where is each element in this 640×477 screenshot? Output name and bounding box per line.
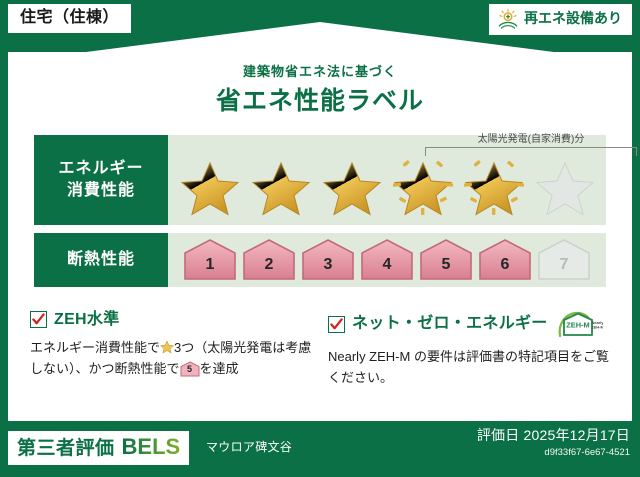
level-number: 6	[501, 257, 510, 282]
zeh-body-part1: エネルギー消費性能で	[30, 340, 160, 355]
energy-row-value: 太陽光発電(自家消費)分	[168, 135, 606, 225]
level-number: 2	[265, 257, 274, 282]
title-subtitle: 建築物省エネ法に基づく	[8, 64, 632, 80]
net-zero-title: ネット・ゼロ・エネルギー	[352, 314, 548, 333]
ratings-rows: エネルギー 消費性能 太陽光発電(自家消費)分	[34, 135, 606, 295]
level-number: 1	[206, 257, 215, 282]
insulation-row-label: 断熱性能	[34, 233, 168, 287]
insulation-level-4: 4	[359, 238, 415, 282]
insulation-row-value: 1 2 3	[168, 233, 606, 287]
title-block: 建築物省エネ法に基づく 省エネ性能ラベル	[8, 52, 632, 116]
star-5-solar	[461, 156, 527, 218]
evaluation-id: d9f33f67-6e67-4521	[477, 447, 630, 458]
bels-jp-label: 第三者評価	[17, 439, 115, 460]
inline-level-number: 5	[180, 362, 200, 377]
energy-row-label: エネルギー 消費性能	[34, 135, 168, 225]
star-icon	[160, 340, 174, 354]
star-icon	[322, 160, 382, 217]
star-4-solar	[390, 156, 456, 218]
energy-performance-label: 住宅（住棟） 再エネ設備あり 建築物省エネ法に基づく 省エネ性能	[0, 0, 640, 477]
sparkle-icon	[390, 156, 456, 218]
star-6-empty	[532, 156, 598, 218]
zeh-standard-body: エネルギー消費性能で3つ（太陽光発電は考慮しない）、かつ断熱性能で5を達成	[30, 337, 312, 379]
level-number: 5	[442, 257, 451, 282]
zeh-standard-checkbox[interactable]	[30, 311, 47, 328]
renewable-energy-chip: 再エネ設備あり	[489, 4, 632, 35]
page-title: 省エネ性能ラベル	[8, 86, 632, 116]
star-rating	[168, 135, 606, 225]
building-type-chip: 住宅（住棟）	[8, 4, 131, 33]
zeh-standard-title: ZEH水準	[54, 310, 120, 329]
level-number: 3	[324, 257, 333, 282]
bels-badge: 第三者評価 BELS	[8, 431, 189, 465]
star-icon	[251, 160, 311, 217]
label-header: 住宅（住棟） 再エネ設備あり	[0, 0, 640, 56]
inline-level-badge: 5	[180, 361, 200, 377]
net-zero-checkbox[interactable]	[328, 316, 345, 333]
check-icon	[330, 318, 343, 331]
building-name: マウロア碑文谷	[206, 441, 292, 454]
bels-en-label: BELS	[122, 435, 181, 459]
net-zero-body: Nearly ZEH-M の要件は評価書の特記項目をご覧ください。	[328, 346, 610, 388]
energy-label-line2: 消費性能	[67, 180, 135, 202]
insulation-level-scale: 1 2 3	[168, 233, 606, 287]
zeh-standard-block: ZEH水準 エネルギー消費性能で3つ（太陽光発電は考慮しない）、かつ断熱性能で5…	[30, 310, 312, 388]
insulation-level-3: 3	[300, 238, 356, 282]
insulation-level-1: 1	[182, 238, 238, 282]
net-zero-energy-block: ネット・ゼロ・エネルギー ZEH-M Nearly ZEH-M Nearly Z…	[328, 310, 610, 388]
insulation-level-2: 2	[241, 238, 297, 282]
insulation-level-7: 7	[536, 238, 592, 282]
svg-text:ZEH-M: ZEH-M	[591, 325, 603, 330]
insulation-level-6: 6	[477, 238, 533, 282]
energy-performance-row: エネルギー 消費性能 太陽光発電(自家消費)分	[34, 135, 606, 225]
sparkle-icon	[461, 156, 527, 218]
star-2	[248, 156, 314, 218]
insulation-level-5: 5	[418, 238, 474, 282]
insulation-performance-row: 断熱性能 1	[34, 233, 606, 287]
star-3	[319, 156, 385, 218]
label-card: 建築物省エネ法に基づく 省エネ性能ラベル エネルギー 消費性能 太陽光発電(自家…	[8, 52, 632, 421]
star-icon	[180, 160, 240, 217]
zeh-m-logo-icon: ZEH-M Nearly ZEH-M	[557, 310, 603, 338]
label-footer: 第三者評価 BELS マウロア碑文谷 評価日 2025年12月17日 d9f33…	[0, 421, 640, 477]
evaluation-info: 評価日 2025年12月17日 d9f33f67-6e67-4521	[477, 427, 630, 458]
check-icon	[32, 313, 45, 326]
zeh-body-part3: を達成	[200, 361, 239, 376]
zeh-section: ZEH水準 エネルギー消費性能で3つ（太陽光発電は考慮しない）、かつ断熱性能で5…	[30, 310, 610, 388]
star-outline-icon	[535, 160, 595, 217]
svg-text:ZEH-M: ZEH-M	[566, 321, 589, 330]
level-number: 4	[383, 257, 392, 282]
net-zero-header: ネット・ゼロ・エネルギー ZEH-M Nearly ZEH-M	[328, 310, 610, 338]
sun-renewable-icon	[497, 8, 519, 30]
renewable-chip-label: 再エネ設備あり	[524, 11, 622, 26]
star-1	[177, 156, 243, 218]
energy-label-line1: エネルギー	[58, 158, 143, 180]
evaluation-date: 評価日 2025年12月17日	[477, 427, 630, 444]
level-number: 7	[560, 257, 569, 282]
insulation-label-text: 断熱性能	[67, 249, 135, 271]
zeh-standard-header: ZEH水準	[30, 310, 312, 329]
